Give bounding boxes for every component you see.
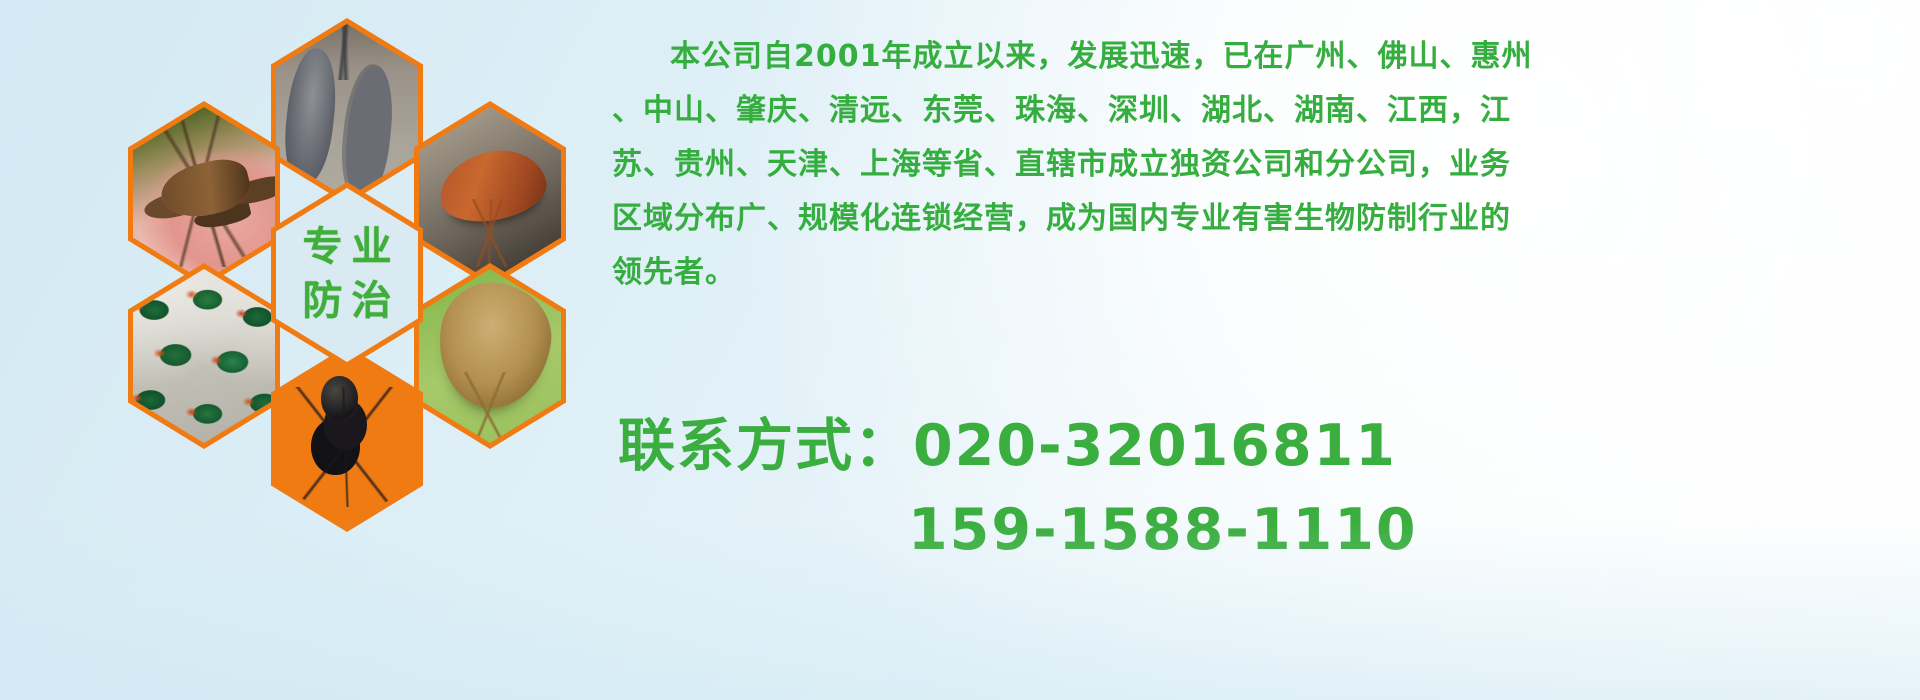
intro-line-4: 区域分布广、规模化连锁经营，成为国内专业有害生物防制行业的 [612,192,1912,246]
hex-cell-slogan: 专业 防治 [271,182,423,368]
contact-label-and-landline[interactable]: 联系方式：020-32016811 [618,404,1918,488]
mosquito-photo [133,107,275,281]
intro-line-1: 本公司自2001年成立以来，发展迅速，已在广州、佛山、惠州 [612,30,1912,84]
cockroach-photo [419,107,561,281]
intro-line-3: 苏、贵州、天津、上海等省、直辖市成立独资公司和分公司，业务 [612,138,1912,192]
intro-line-5: 领先者。 [612,246,1912,300]
contact-block: 联系方式：020-32016811 159-1588-1110 [618,404,1918,572]
stink-bug-photo [419,269,561,443]
hex-cell-cockroach [414,101,566,287]
flies-photo [133,269,275,443]
hex-cell-mosquito [128,101,280,287]
hex-cell-rats [271,18,423,204]
slogan-line-2: 防治 [294,275,401,329]
contact-mobile[interactable]: 159-1588-1110 [618,488,1918,572]
hex-cell-stink-bug [414,263,566,449]
hex-cell-flies [128,263,280,449]
intro-line-2: 、中山、肇庆、清远、东莞、珠海、深圳、湖北、湖南、江西，江 [612,84,1912,138]
intro-paragraph: 本公司自2001年成立以来，发展迅速，已在广州、佛山、惠州 、中山、肇庆、清远、… [612,30,1912,300]
hex-cell-ant [271,346,423,532]
slogan-line-1: 专业 [294,221,401,275]
banner-canvas: 专业 防治 本公司自2001年成立以来，发展迅速，已在广州、佛山、惠州 、中山、… [0,0,1920,700]
rodent-rats-photo [276,24,418,198]
honeycomb-logo: 专业 防治 [86,0,606,586]
ant-photo [276,352,418,526]
